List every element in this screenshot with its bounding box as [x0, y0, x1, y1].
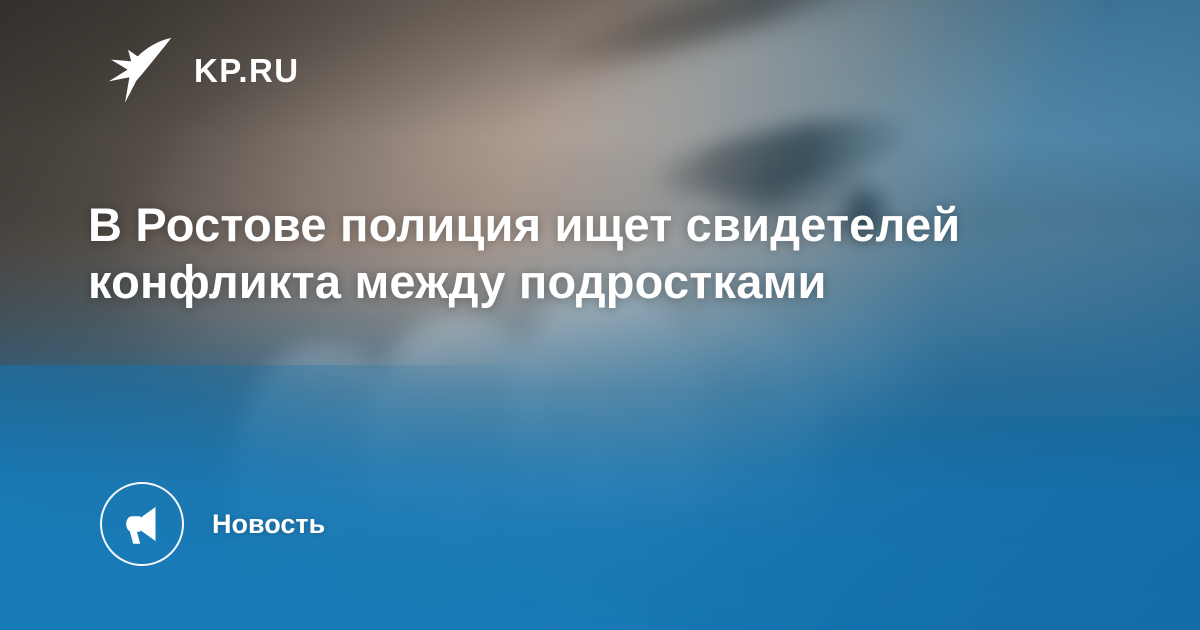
page-title: В Ростове полиция ищет свидетелей конфли…	[88, 196, 968, 310]
megaphone-icon	[121, 503, 163, 545]
swallow-bird-icon	[108, 36, 172, 104]
status-badge[interactable]: Новость	[100, 482, 325, 566]
badge-icon-circle	[100, 482, 184, 566]
status-badge-label: Новость	[212, 511, 325, 538]
brand-name-text: KP.RU	[194, 54, 299, 87]
card-content: KP.RU В Ростове полиция ищет свидетелей …	[0, 0, 1200, 630]
brand-logo[interactable]: KP.RU	[108, 36, 299, 104]
news-share-card: KP.RU В Ростове полиция ищет свидетелей …	[0, 0, 1200, 630]
